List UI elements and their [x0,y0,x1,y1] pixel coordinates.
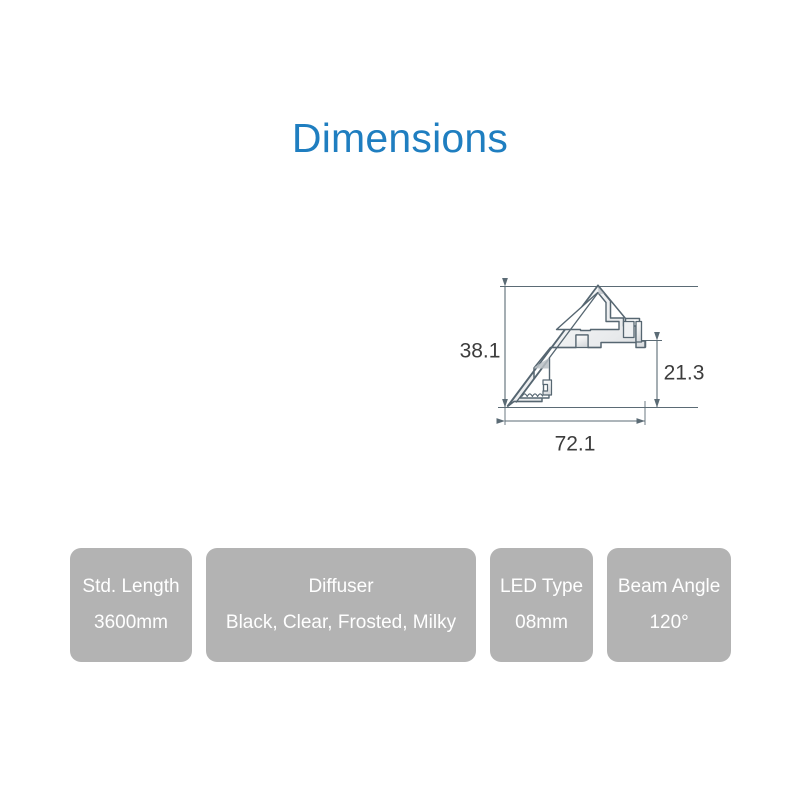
dimension-height-partial: 21.3 [657,341,704,408]
spec-label-beam-angle: Beam Angle [618,577,720,597]
dimension-label-height-partial: 21.3 [664,362,705,385]
spec-box-diffuser: Diffuser Black, Clear, Frosted, Milky [206,548,476,662]
page-title: Dimensions [0,118,800,159]
spec-value-diffuser: Black, Clear, Frosted, Milky [226,613,456,633]
spec-boxes: Std. Length 3600mm Diffuser Black, Clear… [70,548,730,662]
spec-value-std-length: 3600mm [94,613,168,633]
profile-body [507,285,646,406]
dimension-width-overall: 72.1 [505,421,645,456]
dimension-label-width-overall: 72.1 [555,433,596,456]
spec-value-beam-angle: 120° [649,613,688,633]
led-profile-cross-section-svg: 38.1 21.3 72.1 [430,255,730,470]
spec-label-led-type: LED Type [500,577,583,597]
dimension-height-overall: 38.1 [460,287,505,408]
spec-box-led-type: LED Type 08mm [490,548,593,662]
spec-box-std-length: Std. Length 3600mm [70,548,192,662]
dimension-label-height-overall: 38.1 [460,340,501,363]
spec-box-beam-angle: Beam Angle 120° [607,548,731,662]
spec-label-diffuser: Diffuser [308,577,373,597]
spec-value-led-type: 08mm [515,613,568,633]
spec-label-std-length: Std. Length [82,577,179,597]
dimension-drawing: 38.1 21.3 72.1 [430,255,730,470]
